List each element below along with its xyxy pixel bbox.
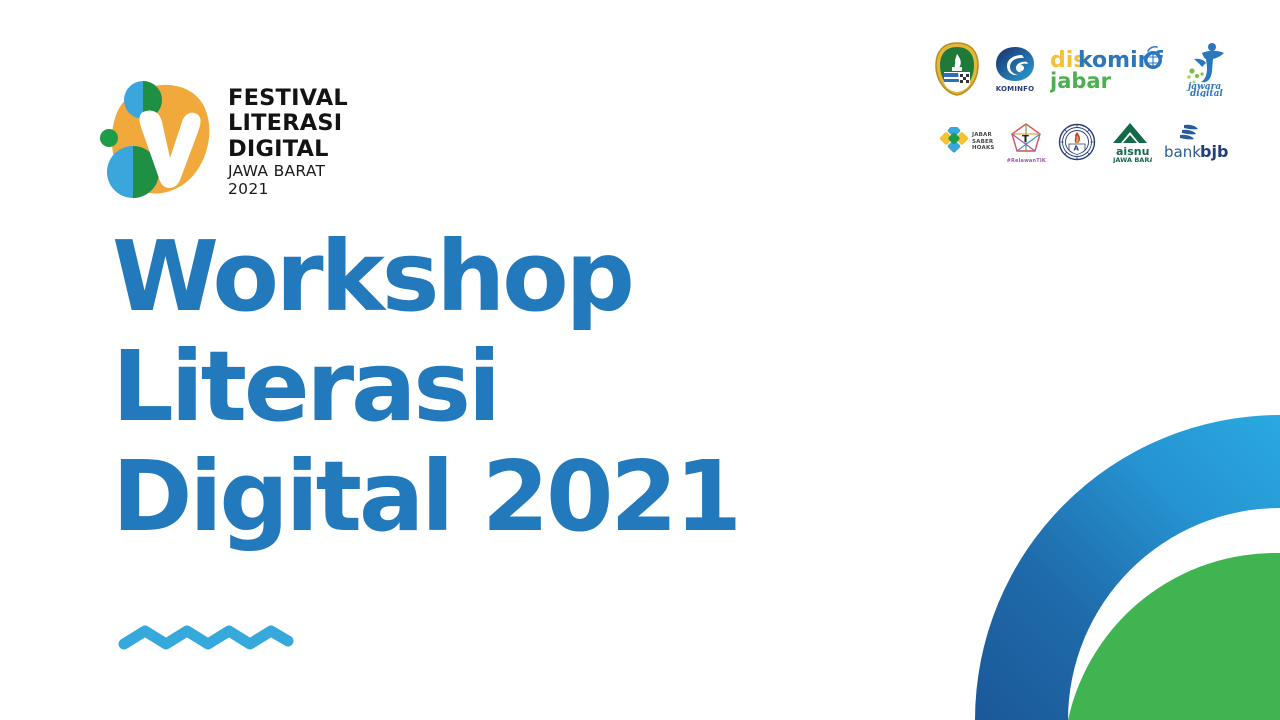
arc-green-block xyxy=(1068,508,1280,720)
bank-bjb-part-2: bjb xyxy=(1200,142,1228,161)
svg-text:A: A xyxy=(1074,145,1080,153)
jsh-line-3: HOAKS xyxy=(972,145,995,152)
festival-logo-line-2: LITERASI xyxy=(228,111,348,137)
page-title: Workshop Literasi Digital 2021 xyxy=(112,222,872,552)
partner-universitas: A xyxy=(1058,122,1096,162)
diskominfo-part-jabar: jabar xyxy=(1050,69,1112,93)
jabar-saber-hoaks-logo-icon xyxy=(939,127,969,157)
zigzag-wave-decoration xyxy=(118,622,294,656)
bank-bjb-logo-icon: bank bjb xyxy=(1164,121,1234,163)
aisnu-part-2: JAWA BARAT xyxy=(1112,156,1152,163)
relawan-tik-logo-icon: T xyxy=(1008,121,1044,157)
arc-blue-ring xyxy=(975,415,1280,720)
festival-logo-wordmark: FESTIVAL LITERASI DIGITAL JAWA BARAT 202… xyxy=(228,74,348,199)
universitas-emblem-icon: A xyxy=(1058,122,1096,162)
festival-logo-year: 2021 xyxy=(228,180,348,198)
festival-logo-mark-icon xyxy=(100,72,222,200)
headline-line-1: Workshop xyxy=(112,222,872,332)
festival-logo-region: JAWA BARAT xyxy=(228,162,348,180)
partner-relawan-tik: T #RelawanTIK xyxy=(1007,121,1046,164)
partner-jawara-digital: jawara digital xyxy=(1182,41,1234,97)
festival-logo-line-3: DIGITAL xyxy=(228,137,348,163)
festival-logo-line-1: FESTIVAL xyxy=(228,86,348,112)
partner-jabar-saber-hoaks: JABAR SABER HOAKS xyxy=(939,127,995,157)
relawan-tik-caption: #RelawanTIK xyxy=(1007,158,1046,164)
slide-canvas: FESTIVAL LITERASI DIGITAL JAWA BARAT 202… xyxy=(0,0,1280,720)
pemprov-jabar-emblem-icon xyxy=(934,41,980,97)
partner-diskominfo-jabar: dis kominf jabar xyxy=(1050,45,1168,93)
partner-bank-bjb: bank bjb xyxy=(1164,121,1234,163)
kominfo-caption: KOMINFO xyxy=(996,85,1035,93)
partner-row-secondary: JABAR SABER HOAKS T #RelawanTIK xyxy=(914,116,1234,168)
partner-logo-bar: KOMINFO dis kominf jabar xyxy=(914,38,1234,168)
headline-line-3: Digital 2021 xyxy=(112,442,872,552)
partner-pemprov-jabar xyxy=(934,41,980,97)
diskominfo-jabar-logo-icon: dis kominf jabar xyxy=(1050,45,1168,93)
partner-row-primary: KOMINFO dis kominf jabar xyxy=(914,38,1234,100)
headline-line-2: Literasi xyxy=(112,332,872,442)
aisnu-logo-icon: aisnu JAWA BARAT xyxy=(1108,121,1152,163)
jawara-digital-part-2: digital xyxy=(1190,89,1223,97)
partner-kominfo: KOMINFO xyxy=(994,45,1036,93)
kominfo-logo-icon xyxy=(994,45,1036,83)
svg-text:T: T xyxy=(1022,134,1029,145)
festival-logo-lockup: FESTIVAL LITERASI DIGITAL JAWA BARAT 202… xyxy=(100,72,348,200)
partner-aisnu: aisnu JAWA BARAT xyxy=(1108,121,1152,163)
bank-bjb-part-1: bank xyxy=(1164,143,1201,161)
jawara-digital-logo-icon: jawara digital xyxy=(1182,41,1234,97)
